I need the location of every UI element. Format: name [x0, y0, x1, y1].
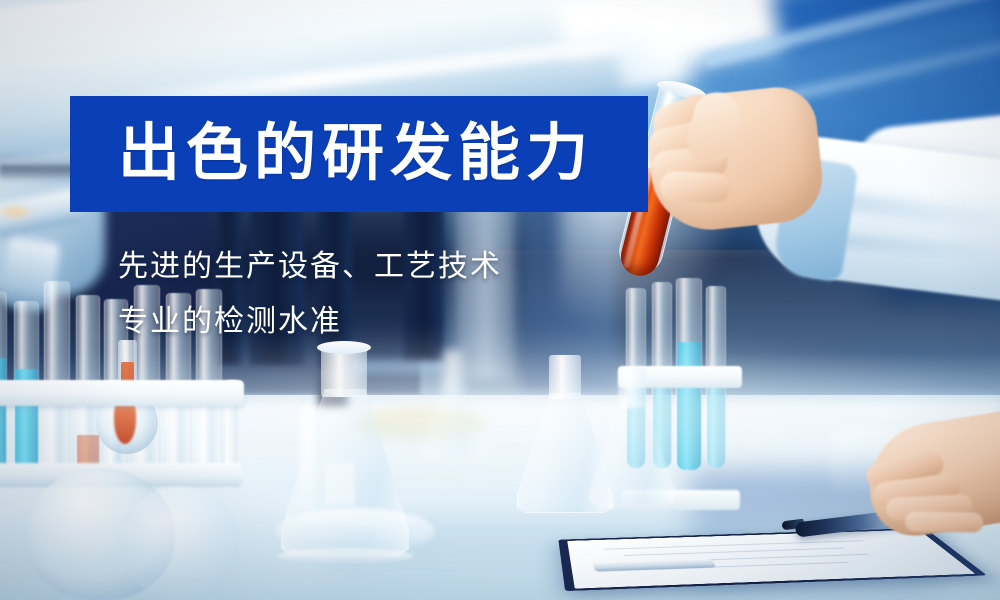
erlenmeyer-flask-right-b	[580, 368, 684, 508]
rack-bar-upper	[0, 380, 244, 406]
subtitle-line-2: 专业的检测水准	[118, 295, 678, 350]
test-tube	[44, 281, 70, 477]
flask-label	[325, 463, 355, 505]
flask-neck	[442, 350, 464, 396]
paper-line	[624, 548, 845, 556]
tube-liquid	[707, 378, 725, 468]
headline-banner: 出色的研发能力	[70, 96, 648, 212]
page-title: 出色的研发能力	[70, 123, 594, 185]
petri-dish	[275, 508, 435, 554]
subtitle-block: 先进的生产设备、工艺技术 专业的检测水准	[118, 240, 678, 349]
flask-body	[590, 402, 674, 506]
instrument-highlight	[0, 206, 30, 218]
finger	[659, 171, 730, 203]
finger	[905, 511, 983, 532]
banner-stage: 出色的研发能力 先进的生产设备、工艺技术 专业的检测水准	[0, 0, 1000, 600]
tube-liquid	[0, 358, 6, 476]
subtitle-line-1: 先进的生产设备、工艺技术	[118, 240, 678, 295]
flask-neck	[549, 355, 581, 399]
round-bottom-flask-2	[120, 486, 240, 600]
